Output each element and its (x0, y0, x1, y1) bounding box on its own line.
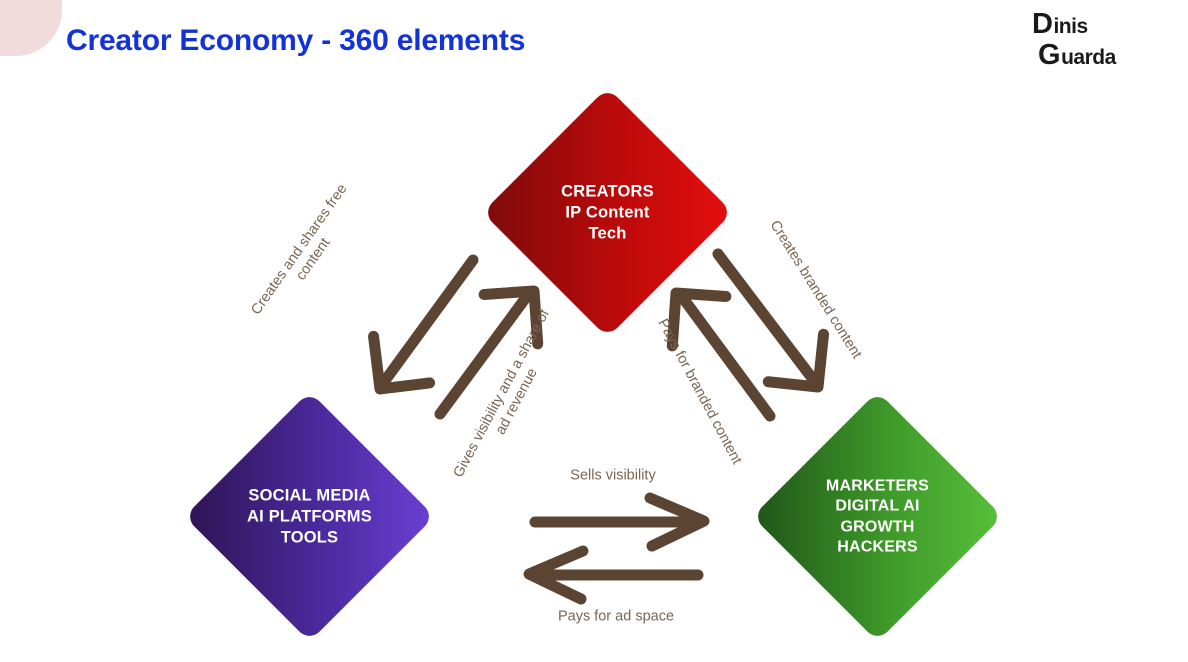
logo-letter-d: D (1032, 10, 1052, 39)
arrow-marketers-to-social (529, 551, 698, 599)
brand-logo: Dinis Guarda (1032, 10, 1162, 72)
logo-text-inis: inis (1053, 16, 1087, 37)
node-creators-label: CREATORS IP Content Tech (493, 181, 723, 244)
edge-label-pays-for-branded-content: Pays for branded content (642, 295, 756, 489)
logo-line-1: Dinis (1032, 10, 1162, 39)
node-social-media-label: SOCIAL MEDIA AI PLATFORMS TOOLS (195, 485, 425, 548)
logo-line-2: Guarda (1038, 41, 1162, 70)
page-title: Creator Economy - 360 elements (66, 24, 525, 58)
node-social-media[interactable]: SOCIAL MEDIA AI PLATFORMS TOOLS (184, 391, 434, 641)
decorative-corner-blob (0, 0, 62, 56)
arrow-social-to-marketers (535, 498, 704, 546)
node-marketers[interactable]: MARKETERS DIGITAL AI GROWTH HACKERS (752, 391, 1002, 641)
slide-canvas: Creator Economy - 360 elements Dinis Gua… (0, 0, 1188, 662)
node-creators[interactable]: CREATORS IP Content Tech (482, 87, 732, 337)
node-marketers-label: MARKETERS DIGITAL AI GROWTH HACKERS (763, 476, 993, 558)
arrow-creators-to-social (374, 260, 473, 389)
edge-label-pays-for-ad-space: Pays for ad space (506, 608, 726, 625)
logo-letter-g: G (1038, 41, 1060, 70)
edge-label-creates-branded-content: Creates branded content (755, 201, 876, 380)
edge-label-creates-and-shares-free-content: Creates and shares free content (233, 159, 382, 351)
logo-text-uarda: uarda (1061, 47, 1116, 68)
edge-label-sells-visibility: Sells visibility (503, 467, 723, 484)
